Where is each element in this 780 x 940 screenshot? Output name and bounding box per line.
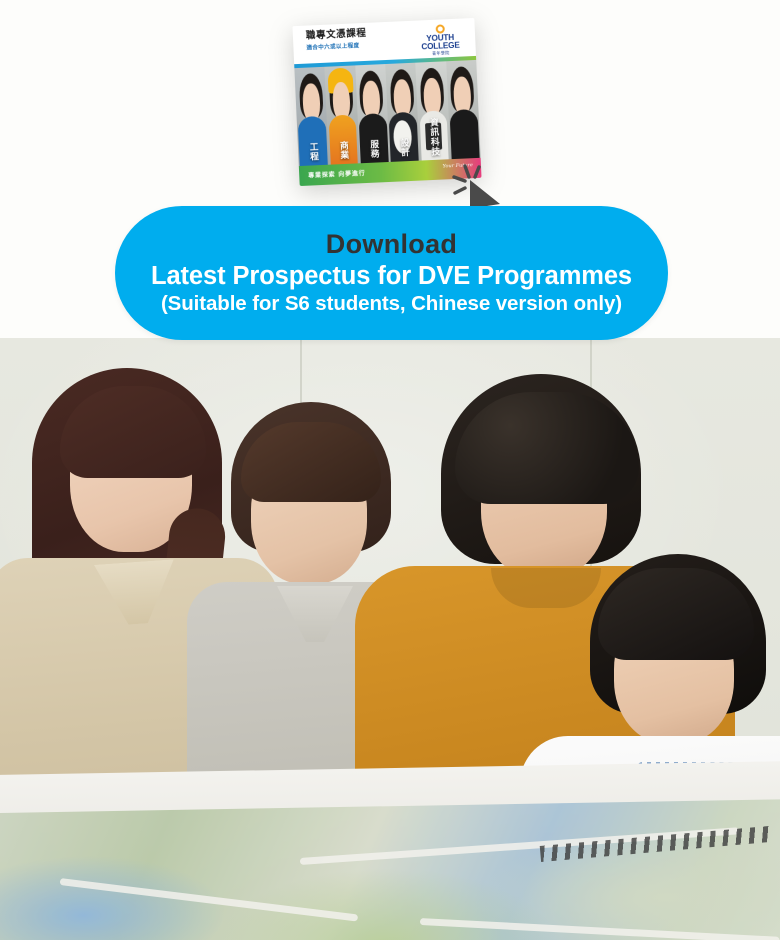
cover-footer-text: 專業探索 向夢進行: [308, 168, 366, 180]
hair-front: [455, 392, 639, 504]
youth-college-logo: YOUTH COLLEGE 青年學院: [414, 23, 467, 57]
hair-front: [598, 568, 754, 660]
hair-front: [241, 422, 381, 502]
logo-ring-icon: [435, 24, 444, 33]
cover-strip-it: 資訊科技: [416, 61, 451, 160]
strip-label: 服務: [368, 139, 381, 159]
download-heading: Download: [326, 229, 457, 259]
download-line-2: (Suitable for S6 students, Chinese versi…: [161, 292, 622, 317]
cover-strip-engineering: 工程: [294, 67, 329, 166]
printed-map: [0, 798, 780, 940]
strip-label: 設計: [398, 138, 411, 158]
cover-student-strips: 工程 商業 服務: [294, 60, 480, 166]
cover-strip-extra: [446, 60, 481, 159]
students-photo: [0, 338, 780, 940]
download-line-1: Latest Prospectus for DVE Programmes: [151, 262, 632, 291]
strip-label: 工程: [307, 142, 320, 162]
cover-strip-service: 服務: [355, 64, 390, 163]
cover-strip-design: 設計: [385, 63, 420, 162]
cover-subtitle: 適合中六或以上程度: [306, 41, 359, 51]
cover-title: 職專文憑課程: [306, 29, 367, 42]
cover-strip-business: 商業: [325, 65, 360, 164]
strip-uniform: [449, 109, 479, 159]
strip-label: 資訊科技: [427, 117, 441, 156]
download-prospectus-button[interactable]: Download Latest Prospectus for DVE Progr…: [115, 206, 668, 340]
strip-label: 商業: [337, 141, 350, 161]
page-root: 職專文憑課程 適合中六或以上程度 YOUTH COLLEGE 青年學院 工程: [0, 0, 780, 940]
